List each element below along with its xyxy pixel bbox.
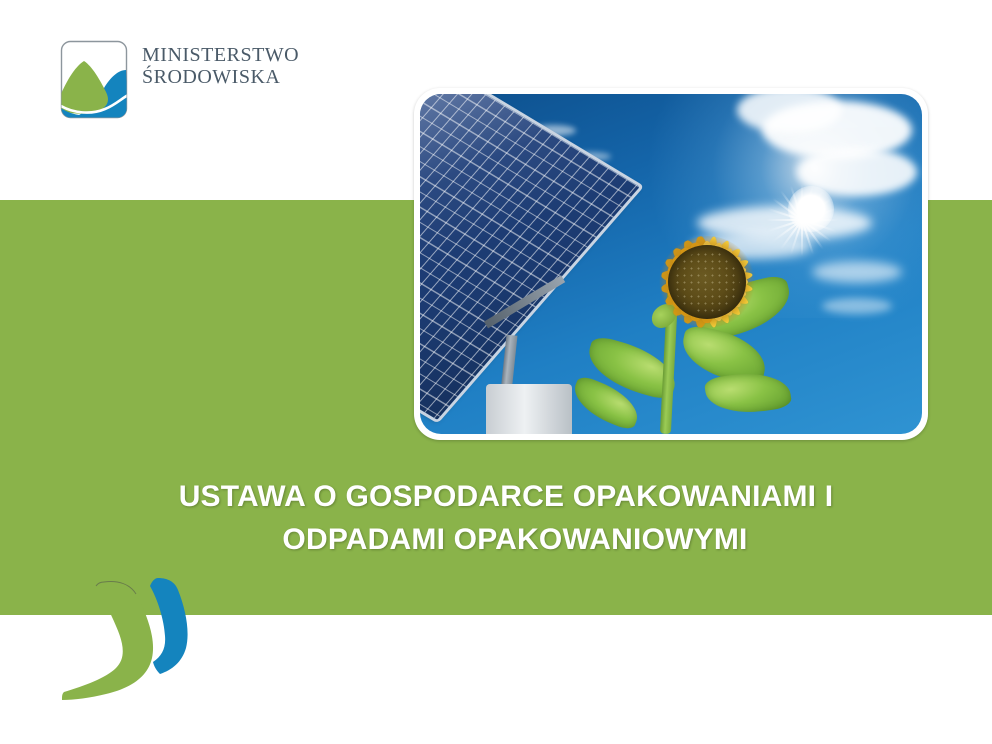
- solar-panel-base: [486, 384, 572, 434]
- sunflower: [621, 196, 793, 368]
- ministry-logo-text: MINISTERSTWO ŚRODOWISKA: [142, 40, 299, 89]
- sun-icon: [788, 186, 834, 232]
- cloud-shape: [822, 298, 892, 314]
- page-title: USTAWA O GOSPODARCE OPAKOWANIAMI I ODPAD…: [96, 476, 916, 561]
- photo-frame: [414, 88, 928, 440]
- title-line-1: USTAWA O GOSPODARCE OPAKOWANIAMI I: [96, 476, 916, 519]
- ministry-logo-block: MINISTERSTWO ŚRODOWISKA: [60, 40, 390, 135]
- logo-line-1: MINISTERSTWO: [142, 44, 299, 66]
- title-line-2: ODPADAMI OPAKOWANIOWYMI: [96, 519, 916, 562]
- sunflower-disc: [668, 245, 746, 319]
- ministry-environment-logo-icon: [60, 40, 128, 128]
- presentation-slide: MINISTERSTWO ŚRODOWISKA: [0, 0, 992, 744]
- brand-swoosh-decoration: [60, 578, 220, 708]
- solar-panel-sunflower-photo: [420, 94, 922, 434]
- logo-line-2: ŚRODOWISKA: [142, 66, 299, 88]
